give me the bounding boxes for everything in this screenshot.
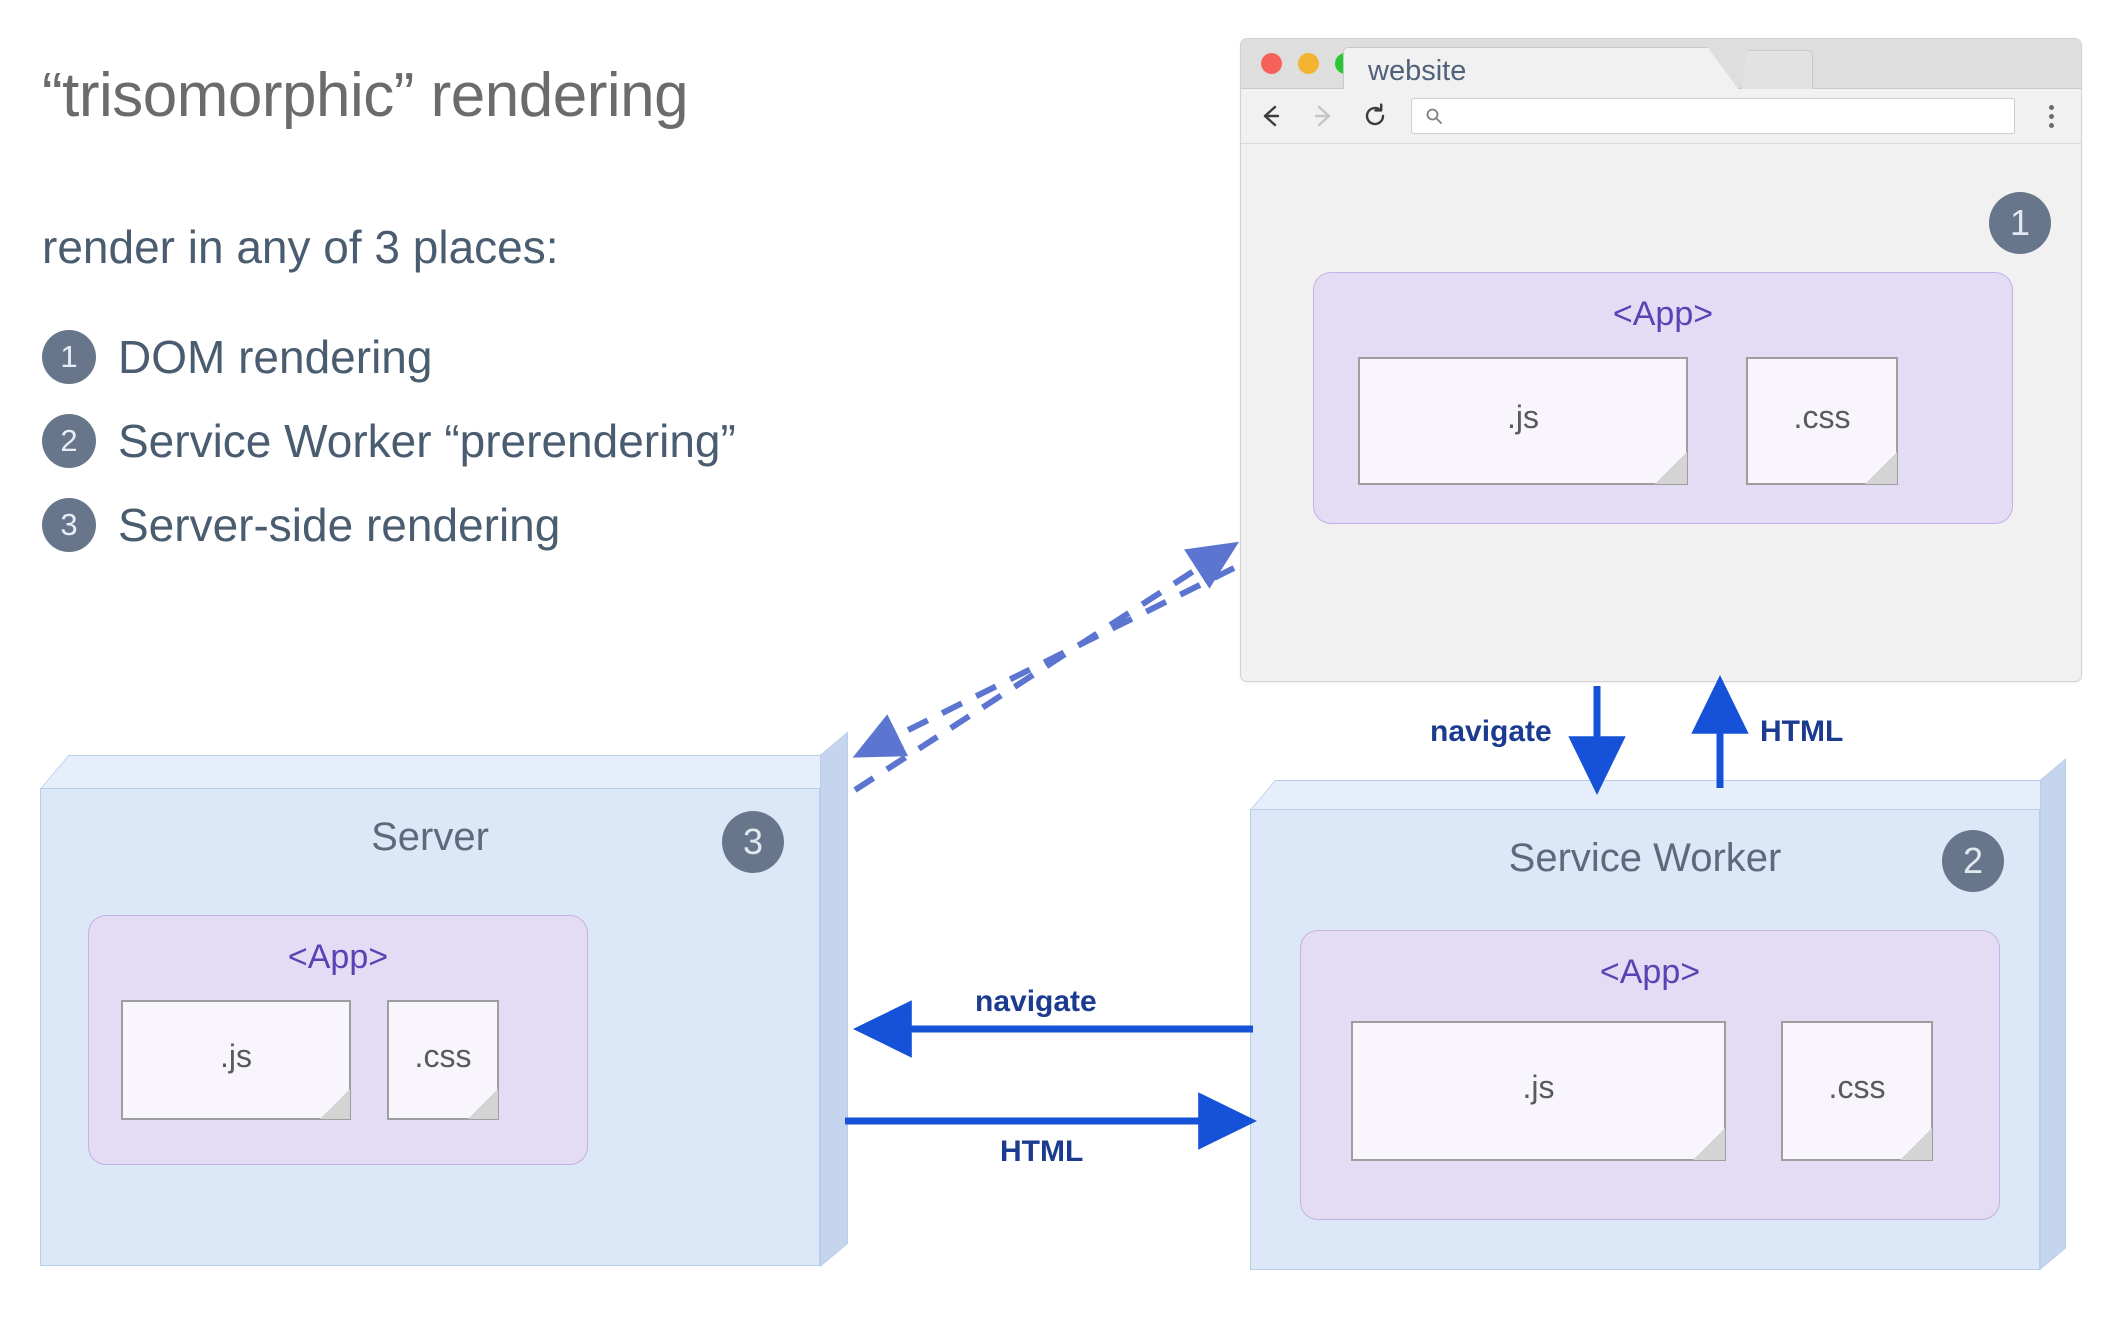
status-badge: 3 [722, 811, 784, 873]
css-document: .css [1781, 1021, 1933, 1161]
app-label: <App> [1301, 953, 1999, 992]
css-document: .css [387, 1000, 499, 1120]
minimize-window-icon[interactable] [1298, 53, 1319, 74]
app-label: <App> [89, 938, 587, 977]
page-fold-icon [1899, 1127, 1933, 1161]
server-box: Server 3 <App> .js .css [40, 755, 860, 1300]
arrow-server-to-browser-dashed [855, 545, 1234, 790]
menu-dot [2049, 123, 2054, 128]
list-number-badge: 2 [42, 414, 96, 468]
reload-icon[interactable] [1353, 94, 1397, 138]
css-document: .css [1746, 357, 1898, 485]
list-number-badge: 3 [42, 498, 96, 552]
list-item: 3 Server-side rendering [42, 483, 942, 567]
back-arrow-icon[interactable] [1249, 94, 1293, 138]
subtitle: render in any of 3 places: [42, 220, 559, 274]
browser-toolbar [1241, 89, 2081, 144]
app-label: <App> [1314, 295, 2012, 334]
arrow-label-html-server-sw: HTML [1000, 1135, 1083, 1169]
css-document-label: .css [1783, 1069, 1931, 1106]
list-item: 2 Service Worker “prerendering” [42, 399, 942, 483]
menu-dot [2049, 105, 2054, 110]
css-document-label: .css [1748, 399, 1896, 436]
js-document: .js [1351, 1021, 1726, 1161]
app-container: <App> .js .css [1313, 272, 2013, 524]
page-fold-icon [467, 1088, 499, 1120]
close-window-icon[interactable] [1261, 53, 1282, 74]
js-document: .js [1358, 357, 1688, 485]
service-worker-title: Service Worker [1250, 836, 2040, 881]
address-bar[interactable] [1411, 98, 2015, 134]
arrow-label-html-sw-browser: HTML [1760, 715, 1843, 749]
js-document: .js [121, 1000, 351, 1120]
places-list: 1 DOM rendering 2 Service Worker “preren… [42, 315, 942, 567]
search-icon [1424, 106, 1444, 126]
menu-dot [2049, 114, 2054, 119]
browser-tab-secondary[interactable] [1741, 50, 1813, 90]
service-worker-box: Service Worker 2 <App> .js .css [1250, 780, 2080, 1300]
overflow-menu-icon[interactable] [2025, 91, 2077, 141]
app-container: <App> .js .css [88, 915, 588, 1165]
page-fold-icon [319, 1088, 351, 1120]
js-document-label: .js [123, 1038, 349, 1075]
browser-tab-label: website [1368, 55, 1466, 88]
server-title: Server [40, 815, 820, 860]
arrow-browser-to-server-dashed [858, 568, 1234, 755]
list-item-label: Server-side rendering [118, 498, 560, 552]
app-container: <App> .js .css [1300, 930, 2000, 1220]
list-number-badge: 1 [42, 330, 96, 384]
diagram-canvas: “trisomorphic” rendering render in any o… [0, 0, 2108, 1328]
js-document-label: .js [1353, 1069, 1724, 1106]
page-title: “trisomorphic” rendering [42, 60, 688, 131]
browser-window: website [1240, 38, 2082, 682]
page-fold-icon [1864, 451, 1898, 485]
arrow-label-navigate-browser-sw: navigate [1430, 715, 1552, 749]
forward-arrow-icon[interactable] [1301, 94, 1345, 138]
list-item: 1 DOM rendering [42, 315, 942, 399]
arrow-label-navigate-sw-server: navigate [975, 985, 1097, 1019]
browser-titlebar: website [1241, 39, 2081, 89]
status-badge: 2 [1942, 830, 2004, 892]
browser-viewport: 1 <App> .js .css [1241, 144, 2081, 680]
list-item-label: Service Worker “prerendering” [118, 414, 736, 468]
page-fold-icon [1692, 1127, 1726, 1161]
status-badge: 1 [1989, 192, 2051, 254]
js-document-label: .js [1360, 399, 1686, 436]
list-item-label: DOM rendering [118, 330, 432, 384]
window-controls [1261, 53, 1356, 74]
browser-tab[interactable]: website [1343, 47, 1739, 90]
css-document-label: .css [389, 1038, 497, 1075]
page-fold-icon [1654, 451, 1688, 485]
